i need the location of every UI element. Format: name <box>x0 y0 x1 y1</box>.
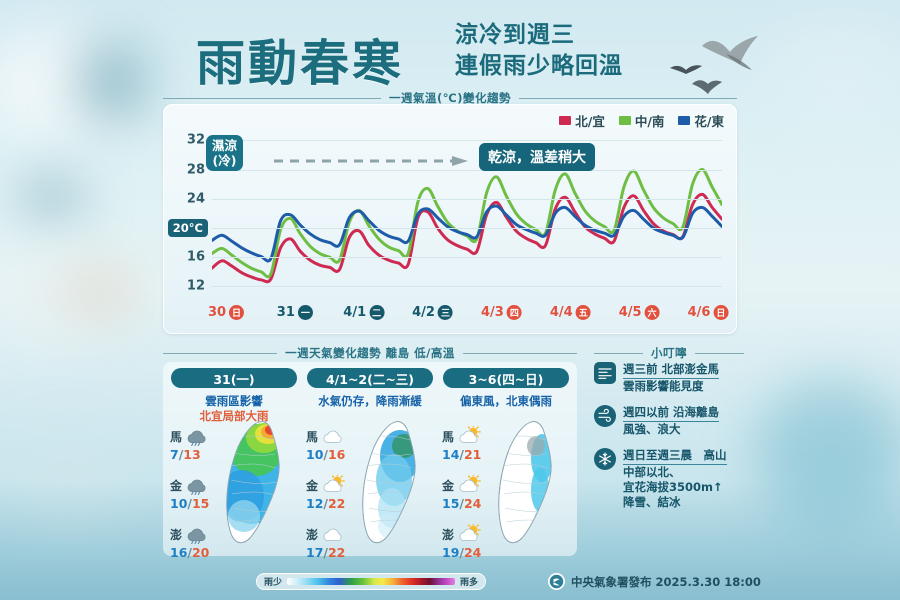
island-name: 馬 <box>170 428 182 445</box>
chart-x-tick-weekday: 六 <box>645 305 660 320</box>
tip-line: 中部以北、 <box>623 465 727 480</box>
annotation-cool-line2: (冷) <box>212 153 237 168</box>
island-high-temp: 24 <box>464 496 481 511</box>
island-low-temp: 12 <box>306 496 323 511</box>
rainfall-scale-high-label: 雨多 <box>460 575 478 588</box>
page-title: 雨動春寒 <box>196 24 404 95</box>
legend-label: 花/東 <box>694 111 724 130</box>
chart-x-tick-date: 4/2 <box>412 305 435 320</box>
island-low-temp: 16 <box>170 545 187 560</box>
rain-map-heavy <box>212 416 302 548</box>
forecast-panels: 31(一)雲雨區影響北宜局部大雨馬7/13金10/15澎16/204/1~2(二… <box>163 362 577 556</box>
chart-x-tick-date: 30 <box>208 305 226 320</box>
tip-text: 週四以前 沿海離島風強、浪大 <box>623 405 719 437</box>
chart-gridline <box>212 199 722 200</box>
island-low-temp: 19 <box>442 545 459 560</box>
legend-item: 花/東 <box>678 111 724 130</box>
cloud-icon <box>320 524 348 544</box>
chart-gridline <box>212 228 722 229</box>
chart-x-tick: 31一 <box>277 305 313 320</box>
forecast-panel-headline: 水氣仍存，降雨漸緩 <box>304 394 436 409</box>
background-blob <box>60 262 140 322</box>
rule-line-right <box>695 353 744 354</box>
island-high-temp: 24 <box>464 545 481 560</box>
island-high-temp: 20 <box>192 545 209 560</box>
tip-headline: 週三前 北部澎金馬 <box>623 362 719 379</box>
panels-section-caption: 一週天氣變化趨勢 離島 低/高溫 <box>285 345 455 361</box>
chart-x-tick-weekday: 日 <box>229 305 244 320</box>
header: 雨動春寒 涼冷到週三 連假雨少略回溫 <box>0 8 900 94</box>
legend-swatch <box>619 116 631 125</box>
sun-cloud-icon <box>456 426 484 446</box>
forecast-headline-line1: 雲雨區影響 <box>168 394 300 409</box>
tip-line: 風強、浪大 <box>623 422 719 437</box>
chart-x-tick-date: 4/6 <box>688 305 711 320</box>
island-high-temp: 15 <box>192 496 209 511</box>
island-name: 金 <box>306 477 318 494</box>
rain-cloud-icon <box>184 475 212 495</box>
chart-x-tick-date: 4/3 <box>481 305 504 320</box>
island-low-temp: 14 <box>442 447 459 462</box>
rule-line-left <box>163 98 381 99</box>
rain-cloud-icon <box>184 426 212 446</box>
rainfall-scale-low-label: 雨少 <box>264 575 282 588</box>
island-name: 馬 <box>306 428 318 445</box>
chart-x-tick-weekday: 四 <box>507 305 522 320</box>
rainfall-scale: 雨少 雨多 <box>256 573 486 590</box>
legend-item: 北/宜 <box>559 111 605 130</box>
chart-x-tick: 30日 <box>208 305 244 320</box>
wind-icon <box>597 408 613 424</box>
island-name: 金 <box>170 477 182 494</box>
island-name: 澎 <box>170 526 182 543</box>
tip-item: 週四以前 沿海離島風強、浪大 <box>594 405 769 437</box>
rain-cloud-icon <box>184 524 212 544</box>
rain-map-light <box>484 416 574 548</box>
island-high-temp: 22 <box>328 496 345 511</box>
chart-x-tick: 4/6日 <box>688 305 729 320</box>
tip-headline: 週日至週三晨 高山 <box>623 448 727 465</box>
chart-x-tick: 4/4五 <box>550 305 591 320</box>
issuer-text: 中央氣象署發布 2025.3.30 18:00 <box>571 574 761 590</box>
forecast-panel[interactable]: 31(一)雲雨區影響北宜局部大雨馬7/13金10/15澎16/20 <box>168 368 300 550</box>
chart-gridline <box>212 140 722 141</box>
legend-item: 中/南 <box>619 111 665 130</box>
tip-text: 週三前 北部澎金馬雲雨影響能見度 <box>623 362 719 394</box>
taiwan-rainfall-map <box>212 416 302 548</box>
annotation-dry-badge: 乾涼，溫差稍大 <box>479 143 595 171</box>
island-low-temp: 10 <box>306 447 323 462</box>
chart-x-tick-weekday: 日 <box>713 305 728 320</box>
header-subtitle-line1: 涼冷到週三 <box>455 20 623 51</box>
taiwan-rainfall-map <box>348 416 438 548</box>
chart-x-axis: 30日31一4/1二4/2三4/3四4/4五4/5六4/6日 <box>212 305 722 327</box>
chart-x-tick-weekday: 二 <box>369 305 384 320</box>
chart-y-axis-badge: 20°C <box>168 219 208 237</box>
forecast-headline-line1: 水氣仍存，降雨漸緩 <box>304 394 436 409</box>
header-subtitle-line2: 連假雨少略回溫 <box>455 51 623 82</box>
sun-cloud-icon <box>456 475 484 495</box>
tip-headline-underlined: 週日至週三晨 高山 <box>623 448 727 465</box>
rule-line-left <box>594 353 643 354</box>
island-low-temp: 10 <box>170 496 187 511</box>
island-name: 澎 <box>442 526 454 543</box>
island-low-temp: 15 <box>442 496 459 511</box>
island-name: 馬 <box>442 428 454 445</box>
legend-swatch <box>559 116 571 125</box>
rule-line-right <box>519 98 737 99</box>
chart-y-tick: 16 <box>187 250 205 265</box>
chart-x-tick-weekday: 三 <box>438 305 453 320</box>
tip-line: 降雪、結冰 <box>623 495 727 510</box>
tip-headline: 週四以前 沿海離島 <box>623 405 719 422</box>
chart-gridline <box>212 286 722 287</box>
tip-text: 週日至週三晨 高山中部以北、宜花海拔3500m↑降雪、結冰 <box>623 448 727 510</box>
chart-x-tick-date: 4/1 <box>343 305 366 320</box>
visibility-icon <box>597 365 613 381</box>
tips-section-rule: 小叮嚀 <box>594 345 744 361</box>
chart-x-tick-date: 31 <box>277 305 295 320</box>
temperature-chart-card: 北/宜中/南花/東 32282420°C1612 30日31一4/1二4/2三4… <box>163 104 737 334</box>
cwa-logo-icon <box>548 573 565 590</box>
tip-item: 週日至週三晨 高山中部以北、宜花海拔3500m↑降雪、結冰 <box>594 448 769 510</box>
island-high-temp: 21 <box>464 447 481 462</box>
background-blob <box>18 176 86 220</box>
chart-x-tick: 4/5六 <box>619 305 660 320</box>
chart-y-tick: 32 <box>187 133 205 148</box>
chart-y-tick: 12 <box>187 279 205 294</box>
rain-map-moderate <box>348 416 438 548</box>
chart-series-line <box>212 194 722 281</box>
tips-section-caption: 小叮嚀 <box>651 345 687 361</box>
island-name: 金 <box>442 477 454 494</box>
chart-x-tick: 4/1二 <box>343 305 384 320</box>
snowflake-icon <box>597 451 613 467</box>
chart-x-tick-weekday: 一 <box>298 305 313 320</box>
tip-headline-underlined: 週三前 北部澎金馬 <box>623 362 719 379</box>
issuer-block: 中央氣象署發布 2025.3.30 18:00 <box>548 573 761 590</box>
rule-line-right <box>463 353 577 354</box>
legend-label: 北/宜 <box>575 111 605 130</box>
forecast-panel-title: 3~6(四~日) <box>443 368 569 388</box>
chart-gridline <box>212 170 722 171</box>
island-high-temp: 22 <box>328 545 345 560</box>
chart-legend: 北/宜中/南花/東 <box>559 111 724 130</box>
island-low-temp: 7 <box>170 447 179 462</box>
header-subtitle: 涼冷到週三 連假雨少略回溫 <box>455 20 623 82</box>
annotation-cool-line1: 濕涼 <box>212 138 237 153</box>
chart-y-tick: 24 <box>187 191 205 206</box>
sun-cloud-icon <box>456 524 484 544</box>
forecast-panel-title: 31(一) <box>171 368 297 388</box>
island-name: 澎 <box>306 526 318 543</box>
forecast-headline-line1: 偏東風，北東偶雨 <box>440 394 572 409</box>
chart-x-tick: 4/2三 <box>412 305 453 320</box>
rainfall-scale-ramp <box>287 578 455 585</box>
tip-icon-wrapper <box>594 448 616 470</box>
chart-series-line <box>212 169 722 276</box>
forecast-panel-headline: 偏東風，北東偶雨 <box>440 394 572 409</box>
legend-swatch <box>678 116 690 125</box>
island-low-temp: 17 <box>306 545 323 560</box>
island-high-temp: 16 <box>328 447 345 462</box>
forecast-panel-title: 4/1~2(二~三) <box>307 368 433 388</box>
tip-headline-underlined: 週四以前 沿海離島 <box>623 405 719 422</box>
chart-x-tick-weekday: 五 <box>576 305 591 320</box>
legend-label: 中/南 <box>635 111 665 130</box>
tip-icon-wrapper <box>594 405 616 427</box>
tip-line: 宜花海拔3500m↑ <box>623 480 727 495</box>
chart-x-tick-date: 4/4 <box>550 305 573 320</box>
tip-line: 雲雨影響能見度 <box>623 379 719 394</box>
tip-item: 週三前 北部澎金馬雲雨影響能見度 <box>594 362 769 394</box>
forecast-panel[interactable]: 4/1~2(二~三)水氣仍存，降雨漸緩馬10/16金12/22澎17/22 <box>304 368 436 550</box>
taiwan-rainfall-map <box>484 416 574 548</box>
forecast-panel[interactable]: 3~6(四~日)偏東風，北東偶雨馬14/21金15/24澎19/24 <box>440 368 572 550</box>
island-high-temp: 13 <box>183 447 200 462</box>
trend-arrow-icon <box>274 155 474 167</box>
chart-gridline <box>212 257 722 258</box>
rule-line-left <box>163 353 277 354</box>
chart-x-tick: 4/3四 <box>481 305 522 320</box>
chart-x-tick-date: 4/5 <box>619 305 642 320</box>
panels-section-rule: 一週天氣變化趨勢 離島 低/高溫 <box>163 345 577 361</box>
tips-list: 週三前 北部澎金馬雲雨影響能見度週四以前 沿海離島風強、浪大週日至週三晨 高山中… <box>594 362 769 521</box>
annotation-cool-badge: 濕涼 (冷) <box>206 135 243 171</box>
tip-icon-wrapper <box>594 362 616 384</box>
cloud-icon <box>320 426 348 446</box>
chart-y-tick: 28 <box>187 162 205 177</box>
sun-cloud-icon <box>320 475 348 495</box>
